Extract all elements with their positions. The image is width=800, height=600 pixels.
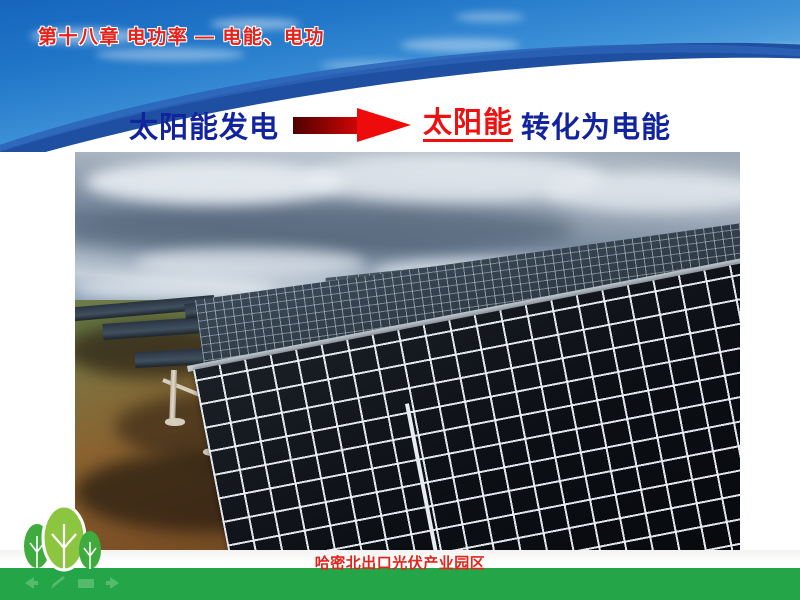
chapter-title: 第十八章 电功率 — 电能、电功: [38, 22, 325, 49]
solar-farm-photo: [75, 152, 740, 550]
cloud-decoration: [455, 12, 525, 22]
right-arrow-icon: [293, 108, 411, 142]
heading-right-text: 转化为电能: [521, 104, 671, 146]
cloud-decoration: [95, 48, 245, 61]
slide-icon[interactable]: [74, 572, 98, 594]
heading-left-text: 太阳能发电: [129, 104, 279, 146]
heading-highlight-text: 太阳能: [423, 108, 513, 143]
slide-canvas: 第十八章 电功率 — 电能、电功 太阳能发电 太阳能 转化为电能: [0, 0, 800, 600]
photo-caption: 哈密北出口光伏产业园区: [0, 552, 800, 573]
photo-cloud-shadow: [75, 204, 575, 256]
post-footing: [165, 418, 185, 426]
main-heading: 太阳能发电 太阳能 转化为电能: [0, 104, 800, 146]
pen-icon[interactable]: [46, 572, 70, 594]
photo-cloud: [135, 248, 365, 278]
back-arrow-icon[interactable]: [18, 572, 42, 594]
presentation-nav-controls[interactable]: [18, 572, 128, 594]
photo-cloud: [85, 160, 345, 204]
arrow-shaft: [293, 117, 363, 134]
arrow-head: [357, 108, 411, 142]
forward-arrow-icon[interactable]: [102, 572, 126, 594]
